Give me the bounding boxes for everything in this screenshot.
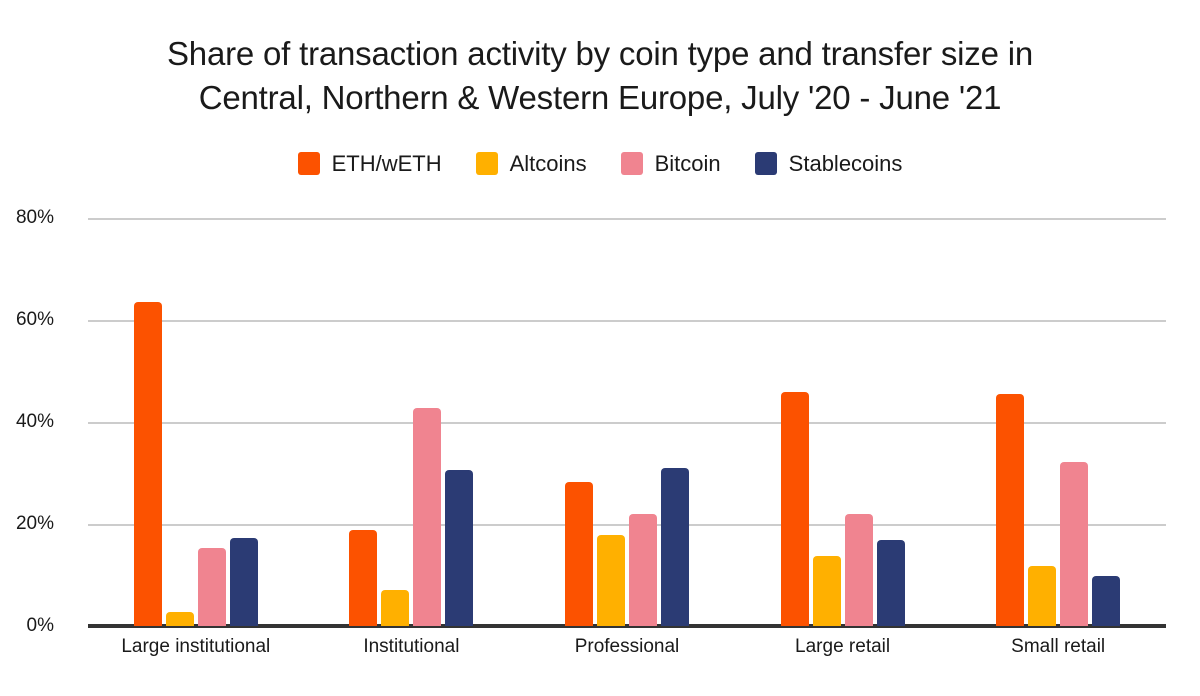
bar[interactable]: [445, 470, 473, 626]
y-axis-tick-label: 80%: [0, 207, 54, 229]
bar[interactable]: [381, 590, 409, 626]
legend-label: Altcoins: [510, 152, 587, 175]
bar[interactable]: [877, 540, 905, 626]
y-axis-tick-label: 60%: [0, 309, 54, 331]
legend-swatch-icon: [755, 152, 777, 175]
bar-set: [519, 218, 735, 626]
legend-item[interactable]: Altcoins: [476, 152, 587, 175]
bar[interactable]: [996, 394, 1024, 626]
x-axis-tick-label: Large retail: [735, 636, 951, 658]
bar[interactable]: [565, 482, 593, 626]
x-axis-tick-label: Professional: [519, 636, 735, 658]
legend-swatch-icon: [298, 152, 320, 175]
bar-group: [88, 218, 304, 626]
bar[interactable]: [629, 514, 657, 626]
bar-set: [735, 218, 951, 626]
bar[interactable]: [597, 535, 625, 626]
bar[interactable]: [1060, 462, 1088, 626]
bar[interactable]: [166, 612, 194, 626]
y-axis-tick-label: 40%: [0, 411, 54, 433]
bar-set: [304, 218, 520, 626]
bar-group: [950, 218, 1166, 626]
legend-label: ETH/wETH: [332, 152, 442, 175]
bar-set: [88, 218, 304, 626]
legend-item[interactable]: Stablecoins: [755, 152, 903, 175]
bar[interactable]: [845, 514, 873, 626]
bar[interactable]: [134, 302, 162, 626]
y-axis-tick-label: 0%: [0, 615, 54, 637]
x-axis-tick-label: Large institutional: [88, 636, 304, 658]
bar[interactable]: [198, 548, 226, 626]
bar-groups: [88, 218, 1166, 626]
bar[interactable]: [349, 530, 377, 626]
chart-title: Share of transaction activity by coin ty…: [0, 32, 1200, 120]
bar[interactable]: [1092, 576, 1120, 626]
x-axis-tick-label: Small retail: [950, 636, 1166, 658]
legend-label: Bitcoin: [655, 152, 721, 175]
bar-group: [735, 218, 951, 626]
bar[interactable]: [661, 468, 689, 626]
bar-chart: Share of transaction activity by coin ty…: [0, 0, 1200, 696]
chart-legend: ETH/wETHAltcoinsBitcoinStablecoins: [0, 152, 1200, 175]
bar[interactable]: [781, 392, 809, 626]
x-axis-labels: Large institutionalInstitutionalProfessi…: [88, 636, 1166, 658]
legend-item[interactable]: ETH/wETH: [298, 152, 442, 175]
bar-group: [304, 218, 520, 626]
bar[interactable]: [230, 538, 258, 626]
legend-swatch-icon: [476, 152, 498, 175]
bar[interactable]: [413, 408, 441, 626]
legend-item[interactable]: Bitcoin: [621, 152, 721, 175]
bar-group: [519, 218, 735, 626]
plot-area: 0%20%40%60%80%: [88, 218, 1166, 626]
y-axis-tick-label: 20%: [0, 513, 54, 535]
legend-label: Stablecoins: [789, 152, 903, 175]
bar-set: [950, 218, 1166, 626]
x-axis-tick-label: Institutional: [304, 636, 520, 658]
bar[interactable]: [1028, 566, 1056, 626]
bar[interactable]: [813, 556, 841, 626]
legend-swatch-icon: [621, 152, 643, 175]
